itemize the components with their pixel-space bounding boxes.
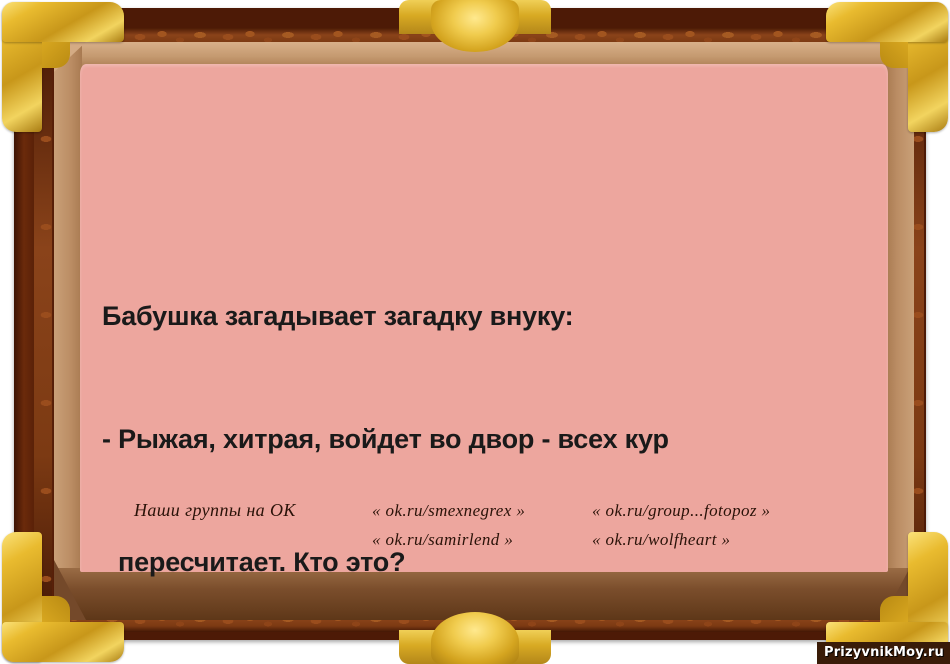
corner-arm-horizontal (2, 2, 124, 42)
footer-row-bottom: « ok.ru/samirlend » « ok.ru/wolfheart » (134, 530, 894, 550)
footer-row-top: Наши группы на ОК « ok.ru/smexnegrex » «… (134, 500, 894, 521)
corner-notch (880, 42, 908, 68)
image-canvas: Бабушка загадывает загадку внуку: - Рыжа… (0, 0, 950, 664)
footer-link-wolfheart[interactable]: « ok.ru/wolfheart » (592, 530, 842, 550)
footer-link-smexnegrex[interactable]: « ok.ru/smexnegrex » (372, 501, 592, 521)
footer-link-fotopoz[interactable]: « ok.ru/group...fotopoz » (592, 501, 842, 521)
content-panel: Бабушка загадывает загадку внуку: - Рыжа… (80, 64, 888, 572)
joke-line-1: Бабушка загадывает загадку внуку: (102, 296, 868, 337)
inner-bevel-left (54, 42, 82, 620)
corner-notch (42, 596, 70, 622)
footer-link-samirlend[interactable]: « ok.ru/samirlend » (372, 530, 592, 550)
ornament-top-dome (431, 0, 519, 52)
footer-label: Наши группы на ОК (134, 500, 372, 521)
corner-arm-horizontal (2, 622, 124, 662)
footer-links: Наши группы на ОК « ok.ru/smexnegrex » «… (134, 500, 894, 550)
gold-ornament-bottom (399, 612, 551, 664)
joke-line-2: - Рыжая, хитрая, войдет во двор - всех к… (102, 419, 868, 460)
watermark: PrizyvnikMoy.ru (817, 642, 950, 664)
ornament-bottom-dome (431, 612, 519, 664)
joke-text: Бабушка загадывает загадку внуку: - Рыжа… (102, 214, 868, 664)
wooden-frame: Бабушка загадывает загадку внуку: - Рыжа… (14, 8, 926, 640)
corner-notch (880, 596, 908, 622)
gold-ornament-top (399, 0, 551, 52)
corner-arm-horizontal (826, 2, 948, 42)
